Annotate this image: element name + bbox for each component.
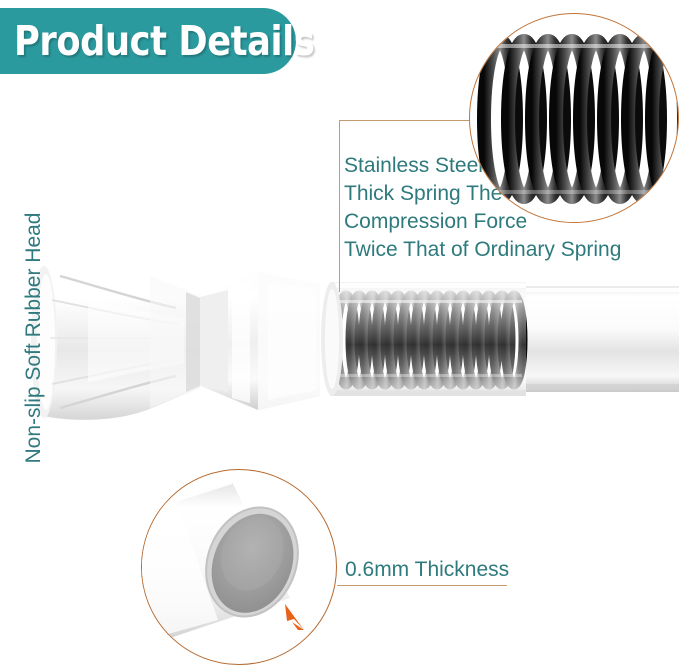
rubber-head (31, 264, 200, 420)
title-banner: Product Details (0, 8, 296, 74)
arrow-pointer-icon (285, 604, 304, 630)
thickness-leader-line (337, 585, 507, 586)
rubber-head-label: Non-slip Soft Rubber Head (22, 198, 46, 478)
spring-leader-line-vertical (339, 120, 340, 292)
page-title: Product Details (14, 17, 314, 65)
product-details-infographic: Product Details Non-slip Soft Rubber Hea… (0, 0, 679, 671)
spring-zoom-inset (469, 13, 679, 223)
spring-zoom-graphic (470, 14, 679, 223)
thickness-label: 0.6mm Thickness (345, 558, 509, 582)
rod-sleeve-cap (321, 282, 343, 396)
rod-tube-overlay (330, 282, 526, 396)
tube-zoom-graphic (142, 470, 337, 665)
rod-collar (196, 272, 320, 410)
rod-tube-right (516, 285, 679, 393)
spring-callout-line-3: Compression Force (344, 208, 679, 236)
spring-callout-line-4: Twice That of Ordinary Spring (344, 236, 679, 264)
tube-zoom-inset (141, 469, 337, 665)
